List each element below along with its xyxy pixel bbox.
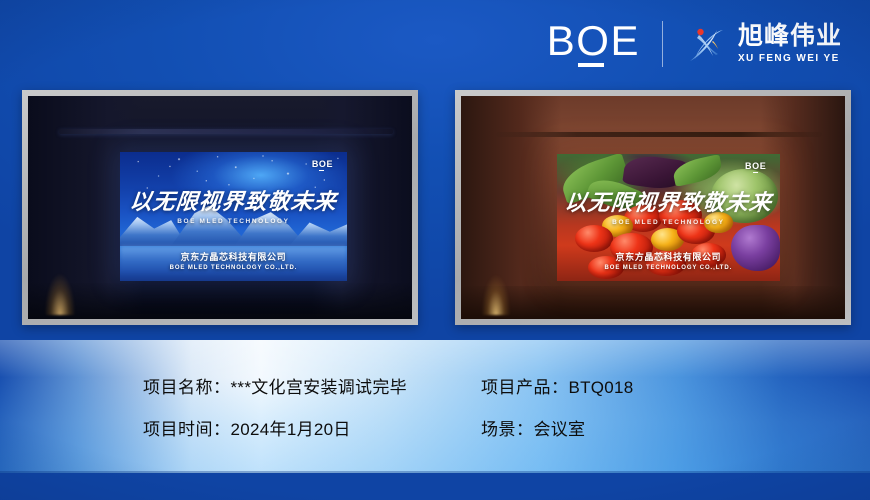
led-screen-left: BOE 以无限视界致敬未来 BOE MLED TECHNOLOGY 京东方晶芯科… <box>120 152 347 281</box>
info-row-project-name: 项目名称： ***文化宫安装调试完毕 <box>143 373 407 398</box>
screen-company-block: 京东方晶芯科技有限公司 BOE MLED TECHNOLOGY CO.,LTD. <box>120 252 347 271</box>
screen-company-en: BOE MLED TECHNOLOGY CO.,LTD. <box>557 265 780 271</box>
photo-card-left[interactable]: BOE 以无限视界致敬未来 BOE MLED TECHNOLOGY 京东方晶芯科… <box>22 90 418 325</box>
screen-company-en: BOE MLED TECHNOLOGY CO.,LTD. <box>120 265 347 271</box>
room-scene-warm: BOE 以无限视界致敬未来 BOE MLED TECHNOLOGY 京东方晶芯科… <box>461 96 845 319</box>
boe-underbar <box>578 63 604 67</box>
info-label: 项目名称： <box>143 373 231 398</box>
led-screen-right: BOE 以无限视界致敬未来 BOE MLED TECHNOLOGY 京东方晶芯科… <box>557 154 780 281</box>
room-scene-dark: BOE 以无限视界致敬未来 BOE MLED TECHNOLOGY 京东方晶芯科… <box>28 96 412 319</box>
boe-mini-underbar <box>319 170 324 172</box>
screen-overlay-left: BOE 以无限视界致敬未来 BOE MLED TECHNOLOGY 京东方晶芯科… <box>120 152 347 281</box>
photo-right: BOE 以无限视界致敬未来 BOE MLED TECHNOLOGY 京东方晶芯科… <box>461 96 845 319</box>
boe-wordmark: BOE <box>547 21 640 61</box>
ceiling-light-strip <box>496 132 822 137</box>
info-value: ***文化宫安装调试完毕 <box>231 373 407 398</box>
screen-slogan-en: BOE MLED TECHNOLOGY <box>120 218 347 225</box>
slide-root: BOE <box>0 0 870 500</box>
screen-company-cn: 京东方晶芯科技有限公司 <box>120 252 347 263</box>
photo-left: BOE 以无限视界致敬未来 BOE MLED TECHNOLOGY 京东方晶芯科… <box>28 96 412 319</box>
boe-mini-underbar <box>753 172 758 174</box>
boe-mini-wordmark: BOE <box>312 160 333 169</box>
info-row-project-date: 项目时间： 2024年1月20日 <box>143 415 407 440</box>
info-value: 2024年1月20日 <box>231 415 351 440</box>
info-column-left: 项目名称： ***文化宫安装调试完毕 项目时间： 2024年1月20日 <box>143 373 407 440</box>
screen-company-cn: 京东方晶芯科技有限公司 <box>557 252 780 263</box>
ceiling-light-strip <box>59 129 393 134</box>
screen-overlay-right: BOE 以无限视界致敬未来 BOE MLED TECHNOLOGY 京东方晶芯科… <box>557 154 780 281</box>
screen-slogan-block: 以无限视界致敬未来 BOE MLED TECHNOLOGY <box>557 192 780 226</box>
floor <box>461 286 845 319</box>
screen-slogan-en: BOE MLED TECHNOLOGY <box>557 219 780 226</box>
header-logo-lockup: BOE <box>547 18 842 70</box>
screen-company-block: 京东方晶芯科技有限公司 BOE MLED TECHNOLOGY CO.,LTD. <box>557 252 780 271</box>
partner-name-block: 旭峰伟业 XU FENG WEI YE <box>738 24 842 64</box>
logo-divider <box>662 21 663 67</box>
boe-mini-wordmark: BOE <box>745 162 766 171</box>
info-column-right: 项目产品： BTQ018 场景： 会议室 <box>481 373 634 440</box>
partner-name-cn: 旭峰伟业 <box>738 24 842 49</box>
screen-slogan-cn: 以无限视界致敬未来 <box>557 192 780 214</box>
xufeng-x-mark-icon <box>683 21 729 67</box>
boe-logo-on-screen: BOE <box>312 160 333 172</box>
info-label: 项目时间： <box>143 415 231 440</box>
info-label: 项目产品： <box>481 373 569 398</box>
info-value: BTQ018 <box>568 378 633 398</box>
info-panel: 项目名称： ***文化宫安装调试完毕 项目时间： 2024年1月20日 项目产品… <box>0 340 870 473</box>
boe-logo: BOE <box>547 21 662 68</box>
photo-card-right[interactable]: BOE 以无限视界致敬未来 BOE MLED TECHNOLOGY 京东方晶芯科… <box>455 90 851 325</box>
partner-name-en: XU FENG WEI YE <box>738 54 842 64</box>
info-label: 场景： <box>481 415 534 440</box>
floor-uplight <box>43 253 77 315</box>
screen-slogan-cn: 以无限视界致敬未来 <box>120 191 347 213</box>
info-row-product: 项目产品： BTQ018 <box>481 373 634 398</box>
floor-uplight <box>480 255 512 315</box>
info-row-scene: 场景： 会议室 <box>481 415 634 440</box>
partner-logo: 旭峰伟业 XU FENG WEI YE <box>683 21 842 67</box>
boe-logo-on-screen: BOE <box>745 162 766 174</box>
floor <box>28 283 412 319</box>
screen-slogan-block: 以无限视界致敬未来 BOE MLED TECHNOLOGY <box>120 191 347 225</box>
info-grid: 项目名称： ***文化宫安装调试完毕 项目时间： 2024年1月20日 项目产品… <box>0 340 870 473</box>
info-value: 会议室 <box>533 415 585 440</box>
